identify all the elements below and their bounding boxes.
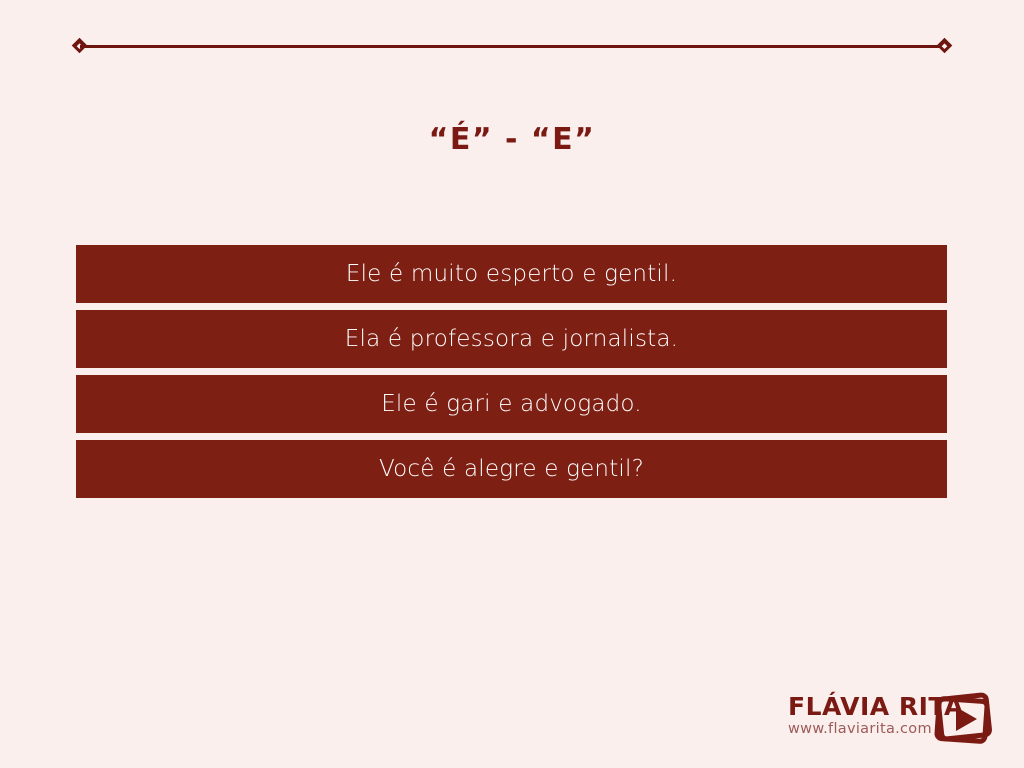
- slide-canvas: “É” - “E” Ele é muito esperto e gentil. …: [0, 0, 1024, 768]
- brand-logo: FLÁVIA RITA www.flaviarita.com: [788, 694, 994, 746]
- sentence-bar: Você é alegre e gentil?: [76, 440, 947, 498]
- sentence-text: Você é alegre e gentil?: [379, 458, 644, 481]
- sentence-text: Ele é muito esperto e gentil.: [346, 263, 677, 286]
- play-button-icon: [932, 692, 994, 744]
- sentence-bar: Ele é muito esperto e gentil.: [76, 245, 947, 303]
- sentence-text: Ele é gari e advogado.: [381, 393, 642, 416]
- brand-name: FLÁVIA RITA: [788, 694, 938, 719]
- brand-url: www.flaviarita.com: [788, 722, 938, 737]
- page-title: “É” - “E”: [0, 122, 1024, 157]
- horizontal-rule-line: [80, 45, 944, 48]
- brand-logo-text: FLÁVIA RITA www.flaviarita.com: [788, 694, 938, 737]
- sentence-list: Ele é muito esperto e gentil. Ela é prof…: [76, 245, 947, 498]
- diamond-marker-right-icon: [937, 38, 953, 54]
- sentence-text: Ela é professora e jornalista.: [345, 328, 678, 351]
- sentence-bar: Ele é gari e advogado.: [76, 375, 947, 433]
- sentence-bar: Ela é professora e jornalista.: [76, 310, 947, 368]
- top-decorative-rule: [74, 38, 950, 54]
